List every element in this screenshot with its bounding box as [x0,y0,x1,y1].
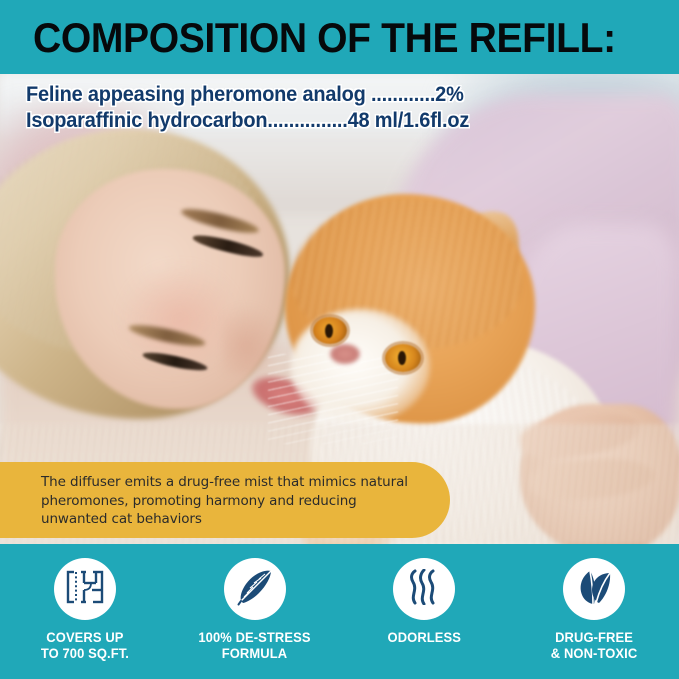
photo-cat-pupil-left [325,324,333,338]
floor-plan-icon [66,570,104,609]
product-infographic: COMPOSITION OF THE REFILL: [0,0,679,679]
feature-label-line-2: TO 700 SQ.FT. [41,646,129,662]
callout-text: The diffuser emits a drug-free mist that… [41,473,426,529]
feather-icon [235,568,275,611]
smoke-waves-icon [407,569,441,610]
feature-label: COVERS UP TO 700 SQ.FT. [41,630,129,662]
composition-line-1: Feline appeasing pheromone analog ......… [26,82,469,108]
feature-label-line-1: ODORLESS [388,630,462,646]
feature-band: COVERS UP TO 700 SQ.FT. [0,544,679,679]
photo-cat-pupil-right [398,351,406,365]
header-band: COMPOSITION OF THE REFILL: [0,0,679,74]
callout-banner: The diffuser emits a drug-free mist that… [0,462,450,538]
feature-100-percent-destress-formula: 100% DE-STRESS FORMULA [170,544,340,679]
feature-covers-up-to-700-sqft: COVERS UP TO 700 SQ.FT. [0,544,170,679]
feature-icon-circle [54,558,116,620]
feature-list: COVERS UP TO 700 SQ.FT. [0,544,679,679]
feature-icon-circle [393,558,455,620]
feature-odorless: ODORLESS [340,544,510,679]
composition-text: Feline appeasing pheromone analog ......… [26,82,469,134]
feature-label: DRUG-FREE & NON-TOXIC [551,630,638,662]
composition-line-2: Isoparaffinic hydrocarbon...............… [26,108,469,134]
page-title: COMPOSITION OF THE REFILL: [33,15,616,61]
feature-label-line-1: DRUG-FREE [551,630,638,646]
feature-label-line-1: 100% DE-STRESS [198,630,310,646]
feature-label: ODORLESS [388,630,462,646]
photo-cat-nose [330,344,360,364]
leaves-icon [574,568,614,611]
feature-label-line-2: FORMULA [198,646,310,662]
feature-icon-circle [563,558,625,620]
feature-label-line-2: & NON-TOXIC [551,646,638,662]
feature-label-line-1: COVERS UP [41,630,129,646]
feature-drug-free-non-toxic: DRUG-FREE & NON-TOXIC [509,544,679,679]
feature-icon-circle [224,558,286,620]
feature-label: 100% DE-STRESS FORMULA [198,630,310,662]
